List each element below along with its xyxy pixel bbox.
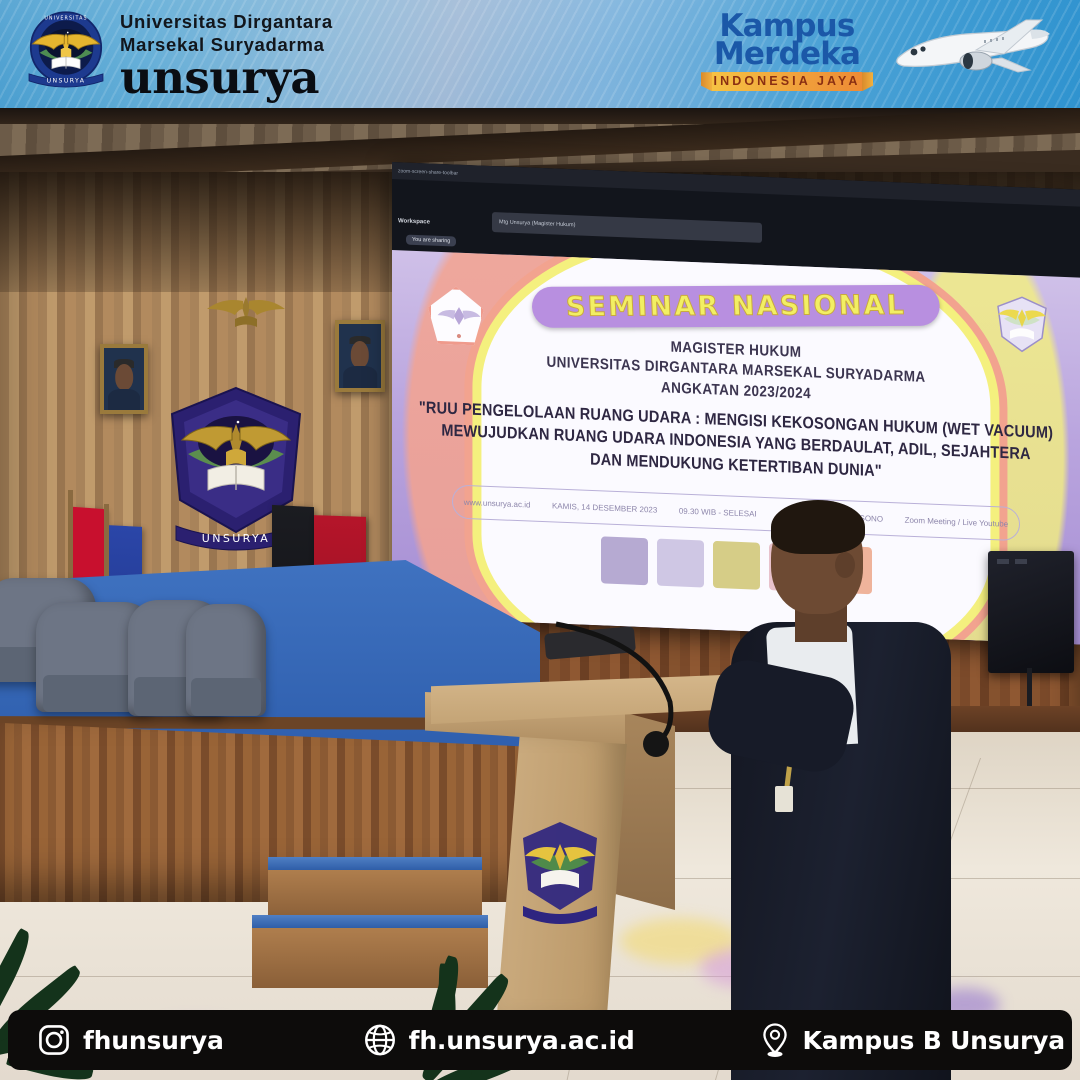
unsurya-crest-icon: UNSURYA UNIVERSITAS xyxy=(22,5,110,97)
garuda-emblem-icon xyxy=(205,291,287,333)
sharing-chip: You are sharing xyxy=(406,235,456,247)
svg-text:UNIVERSITAS: UNIVERSITAS xyxy=(44,15,87,21)
speaker-id-badge xyxy=(775,786,793,812)
sponsor-logo-1 xyxy=(657,539,704,588)
stage-chair xyxy=(186,604,266,716)
sponsor-logo-0 xyxy=(601,536,648,585)
framed-portrait-left xyxy=(100,344,148,414)
slide-banner-title: SEMINAR NASIONAL xyxy=(531,285,941,328)
pa-speaker xyxy=(988,551,1074,673)
airplane-icon xyxy=(880,14,1060,90)
website-url: fh.unsurya.ac.id xyxy=(409,1026,635,1055)
meeting-label: Mtg Unsurya (Magister Hukum) xyxy=(499,219,575,228)
meeting-title-bar: Mtg Unsurya (Magister Hukum) xyxy=(492,212,762,243)
instagram-icon xyxy=(38,1024,70,1056)
framed-portrait-right xyxy=(335,320,385,392)
footer-location[interactable]: Kampus B Unsurya xyxy=(760,1022,1065,1058)
header-identity: UNSURYA UNIVERSITAS Universitas Dirganta… xyxy=(22,5,333,100)
svg-text:UNSURYA: UNSURYA xyxy=(47,78,86,85)
speaker-ear xyxy=(835,552,855,578)
slide-info-0: www.unsurya.ac.id xyxy=(464,497,531,509)
workspace-label: Workspace xyxy=(398,218,430,225)
location-pin-icon xyxy=(760,1022,790,1058)
slide-banner-text: SEMINAR NASIONAL xyxy=(565,290,906,323)
wall-crest-text: UNSURYA xyxy=(202,532,270,545)
instagram-handle: fhunsurya xyxy=(83,1026,224,1055)
screen-share-toolbar-label: zoom-screen-share-toolbar xyxy=(398,168,458,176)
slide-info-1: KAMIS, 14 DESEMBER 2023 xyxy=(552,501,657,514)
footer-website[interactable]: fh.unsurya.ac.id xyxy=(364,1024,635,1056)
header-banner: UNSURYA UNIVERSITAS Universitas Dirganta… xyxy=(0,0,1080,108)
speaker-hair xyxy=(771,500,865,554)
seminar-photo: UNSURYA zoom-screen-sha xyxy=(0,108,1080,1080)
kampus-merdeka-ribbon: INDONESIA JAYA xyxy=(712,72,862,91)
footer-instagram[interactable]: fhunsurya xyxy=(38,1024,224,1056)
speaker-person xyxy=(735,496,965,1080)
location-name: Kampus B Unsurya xyxy=(803,1026,1065,1055)
podium-crest-icon xyxy=(517,818,603,930)
globe-icon xyxy=(364,1024,396,1056)
gooseneck-microphone-icon xyxy=(520,616,700,766)
kampus-merdeka-line-2: Merdeka xyxy=(712,40,862,69)
brand-wordmark: unsurya xyxy=(120,57,333,100)
kampus-merdeka-logo: Kampus Merdeka INDONESIA JAYA xyxy=(712,12,862,91)
university-line-1: Universitas Dirgantara xyxy=(120,11,333,34)
footer-contact-bar: fhunsurya fh.unsurya.ac.id xyxy=(8,1010,1072,1070)
poster-canvas: UNSURYA UNIVERSITAS Universitas Dirganta… xyxy=(0,0,1080,1080)
